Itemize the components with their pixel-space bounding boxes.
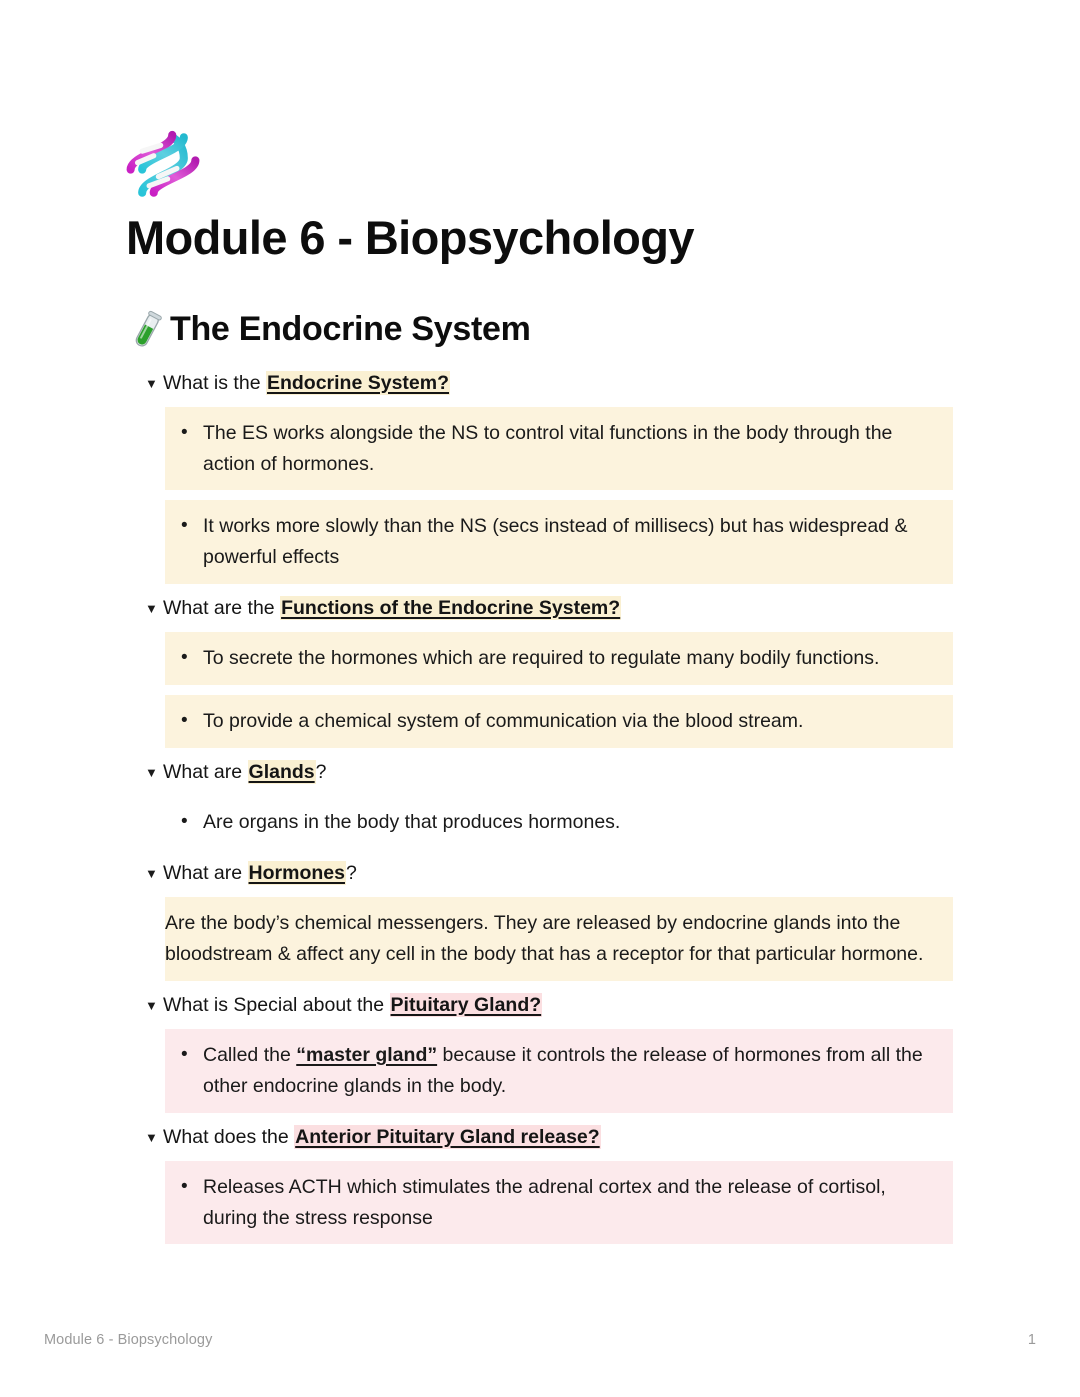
toggle-label: What are Glands? xyxy=(163,758,956,787)
answer-block: • Called the “master gland” because it c… xyxy=(165,1029,953,1113)
question-prefix: What is Special about the xyxy=(163,994,390,1016)
toggle-label: What is Special about the Pituitary Glan… xyxy=(163,991,956,1020)
question-suffix: ? xyxy=(316,761,327,783)
question-prefix: What is the xyxy=(163,372,266,394)
bullet-icon: • xyxy=(179,807,203,837)
answer-text: It works more slowly than the NS (secs i… xyxy=(203,511,939,573)
toggle-functions-of-endocrine-system[interactable]: ▼ What are the Functions of the Endocrin… xyxy=(126,594,956,623)
question-prefix: What are xyxy=(163,761,248,783)
chevron-down-icon[interactable]: ▼ xyxy=(145,594,163,623)
answer-text: Are organs in the body that produces hor… xyxy=(203,807,939,838)
answer-text: To secrete the hormones which are requir… xyxy=(203,643,939,674)
answer-block: Are the body’s chemical messengers. They… xyxy=(165,897,953,981)
answer-block: • To secrete the hormones which are requ… xyxy=(165,632,953,685)
question-term: Endocrine System? xyxy=(266,371,450,395)
bullet-icon: • xyxy=(179,643,203,673)
toggle-hormones[interactable]: ▼ What are Hormones? xyxy=(126,859,956,888)
question-term: Pituitary Gland? xyxy=(390,993,543,1017)
bullet-icon: • xyxy=(179,418,203,448)
document-page: Module 6 - Biopsychology The Endocrine S… xyxy=(0,0,1080,1397)
toggle-label: What are the Functions of the Endocrine … xyxy=(163,594,956,623)
question-term: Functions of the Endocrine System? xyxy=(280,596,621,620)
bullet-icon: • xyxy=(179,511,203,541)
bullet-icon: • xyxy=(179,706,203,736)
answer-block: • The ES works alongside the NS to contr… xyxy=(165,407,953,491)
document-content: Module 6 - Biopsychology The Endocrine S… xyxy=(126,128,956,1254)
toggle-glands[interactable]: ▼ What are Glands? xyxy=(126,758,956,787)
question-term: Hormones xyxy=(248,861,346,885)
answer-block: • Releases ACTH which stimulates the adr… xyxy=(165,1161,953,1245)
footer-document-title: Module 6 - Biopsychology xyxy=(44,1332,212,1348)
question-term: Glands xyxy=(248,760,316,784)
answer-lead: Called the xyxy=(203,1044,296,1066)
toggle-label: What are Hormones? xyxy=(163,859,956,888)
answer-block: • To provide a chemical system of commun… xyxy=(165,695,953,748)
question-suffix: ? xyxy=(346,862,357,884)
answer-text: Releases ACTH which stimulates the adren… xyxy=(203,1172,939,1234)
bullet-icon: • xyxy=(179,1040,203,1070)
question-prefix: What are xyxy=(163,862,248,884)
chevron-down-icon[interactable]: ▼ xyxy=(145,758,163,787)
footer-page-number: 1 xyxy=(1028,1332,1036,1348)
section-heading: The Endocrine System xyxy=(126,309,956,351)
toggle-anterior-pituitary-gland[interactable]: ▼ What does the Anterior Pituitary Gland… xyxy=(126,1123,956,1152)
answer-text: Are the body’s chemical messengers. They… xyxy=(165,908,943,970)
test-tube-emoji xyxy=(126,309,168,351)
chevron-down-icon[interactable]: ▼ xyxy=(145,369,163,398)
answer-emphasis: “master gland” xyxy=(296,1044,437,1066)
toggle-label: What does the Anterior Pituitary Gland r… xyxy=(163,1123,956,1152)
chevron-down-icon[interactable]: ▼ xyxy=(145,991,163,1020)
question-prefix: What does the xyxy=(163,1126,294,1148)
toggle-pituitary-gland[interactable]: ▼ What is Special about the Pituitary Gl… xyxy=(126,991,956,1020)
question-prefix: What are the xyxy=(163,597,280,619)
toggle-label: What is the Endocrine System? xyxy=(163,369,956,398)
answer-text: The ES works alongside the NS to control… xyxy=(203,418,939,480)
answer-block: • It works more slowly than the NS (secs… xyxy=(165,500,953,584)
page-footer: Module 6 - Biopsychology 1 xyxy=(44,1329,1036,1351)
section-heading-text: The Endocrine System xyxy=(170,310,531,349)
page-title: Module 6 - Biopsychology xyxy=(126,212,956,265)
chevron-down-icon[interactable]: ▼ xyxy=(145,1123,163,1152)
bullet-icon: • xyxy=(179,1172,203,1202)
dna-emoji xyxy=(126,128,200,202)
question-term: Anterior Pituitary Gland release? xyxy=(294,1125,601,1149)
toggle-endocrine-system[interactable]: ▼ What is the Endocrine System? xyxy=(126,369,956,398)
answer-text: Called the “master gland” because it con… xyxy=(203,1040,939,1102)
chevron-down-icon[interactable]: ▼ xyxy=(145,859,163,888)
answer-block: • Are organs in the body that produces h… xyxy=(165,796,953,849)
answer-text: To provide a chemical system of communic… xyxy=(203,706,939,737)
